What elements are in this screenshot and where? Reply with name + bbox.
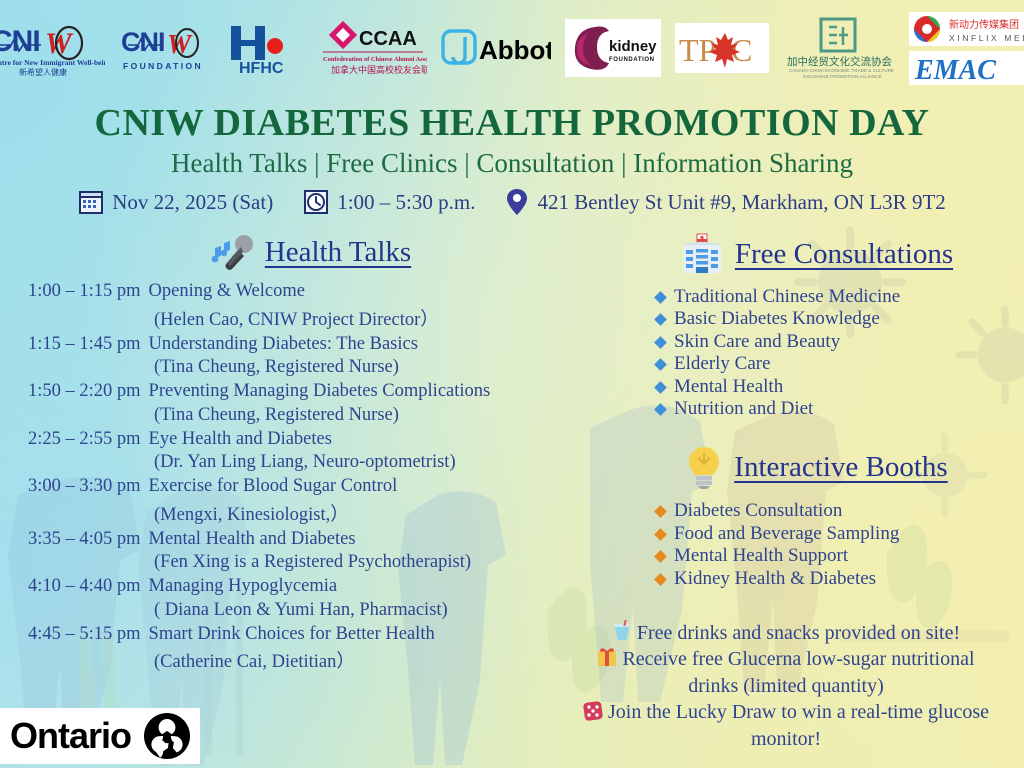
talk-time: 4:10 – 4:40 pm [28, 577, 141, 596]
talk-time: 3:00 – 3:30 pm [28, 477, 141, 496]
free-consultations-header: Free Consultations [620, 232, 1012, 276]
page-title: CNIW DIABETES HEALTH PROMOTION DAY [0, 101, 1024, 145]
talk-time: 1:15 – 1:45 pm [28, 335, 141, 354]
free-consultations-title: Free Consultations [735, 238, 953, 271]
health-talks-header: Health Talks [28, 232, 594, 272]
talk-topic: Preventing Managing Diabetes Complicatio… [149, 381, 491, 401]
media-logo-stack: 新动力传媒集团 XINFLIX MEDIA EMAC [909, 12, 1024, 85]
ccaa-logo: CCAA Confederation of Chinese Alumni Ass… [319, 19, 427, 77]
diamond-bullet-icon [654, 336, 667, 349]
svg-text:EMAC: EMAC [914, 55, 996, 85]
svg-text:HFHC: HFHC [239, 60, 284, 76]
event-date: Nov 22, 2025 (Sat) [78, 189, 273, 215]
list-item: Nutrition and Diet [620, 398, 1012, 420]
svg-text:kidney: kidney [609, 38, 657, 55]
interactive-booths-section: Interactive Booths Diabetes Consultation… [620, 444, 1012, 590]
list-item: Mental Health Support [620, 545, 1012, 567]
xinflix-media-logo: 新动力传媒集团 XINFLIX MEDIA [909, 12, 1024, 46]
svg-text:加拿大中国高校校友会联合会: 加拿大中国高校校友会联合会 [331, 64, 427, 75]
talk-row: 4:45 – 5:15 pmSmart Drink Choices for Be… [28, 625, 594, 644]
cceta-logo: 加中经贸文化交流协会 CANADA-CHINA ECONOMIC TRADE &… [783, 17, 895, 79]
list-item-label: Kidney Health & Diabetes [674, 568, 876, 590]
list-item-label: Mental Health Support [674, 545, 848, 567]
diamond-bullet-icon [654, 291, 667, 304]
sponsor-logo-bar: CNI W Centre for New Immigrant Well-bein… [0, 0, 1024, 96]
poster-canvas: CNI W Centre for New Immigrant Well-bein… [0, 0, 1024, 768]
clock-icon [303, 189, 329, 215]
talk-topic: Eye Health and Diabetes [149, 429, 332, 449]
drink-icon [612, 620, 632, 642]
emac-logo: EMAC [909, 51, 1024, 85]
list-item: Diabetes Consultation [620, 500, 1012, 522]
event-date-text: Nov 22, 2025 (Sat) [112, 190, 273, 215]
talk-row: 3:00 – 3:30 pmExercise for Blood Sugar C… [28, 477, 594, 496]
note-line: Free drinks and snacks provided on site! [548, 620, 1024, 646]
talk-topic: Mental Health and Diabetes [149, 529, 356, 549]
tpac-logo: TP C [675, 23, 769, 73]
note-text: Receive free Glucerna low-sugar nutritio… [622, 648, 974, 670]
ontario-label: Ontario [10, 715, 131, 757]
talk-topic: Exercise for Blood Sugar Control [149, 476, 398, 496]
diamond-bullet-icon [654, 314, 667, 327]
diamond-bullet-icon [654, 550, 667, 563]
svg-text:Centre for New Immigrant Well-: Centre for New Immigrant Well-being [0, 58, 105, 67]
list-item-label: Elderly Care [674, 353, 771, 375]
talk-speaker: (Tina Cheung, Registered Nurse) [28, 405, 594, 426]
svg-text:FOUNDATION: FOUNDATION [123, 61, 203, 71]
list-item: Mental Health [620, 376, 1012, 398]
talk-topic: Understanding Diabetes: The Basics [149, 334, 418, 354]
talk-time: 3:35 – 4:05 pm [28, 530, 141, 549]
talk-topic: Opening & Welcome [149, 281, 305, 301]
talk-time: 4:45 – 5:15 pm [28, 625, 141, 644]
diamond-bullet-icon [654, 528, 667, 541]
note-text: monitor! [751, 728, 821, 750]
list-item-label: Basic Diabetes Knowledge [674, 308, 880, 330]
right-column: Free Consultations Traditional Chinese M… [620, 232, 1012, 590]
microphone-icon [211, 232, 255, 272]
diamond-bullet-icon [654, 381, 667, 394]
health-talks-list: 1:00 – 1:15 pmOpening & Welcome(Helen Ca… [28, 282, 594, 673]
note-text: Free drinks and snacks provided on site! [637, 622, 960, 644]
page-subtitle: Health Talks | Free Clinics | Consultati… [0, 148, 1024, 179]
list-item: Elderly Care [620, 353, 1012, 375]
note-line: drinks (limited quantity) [548, 673, 1024, 699]
list-item-label: Mental Health [674, 376, 783, 398]
dice-icon [583, 701, 603, 721]
svg-text:CCAA: CCAA [359, 28, 417, 50]
svg-text:CANADA-CHINA ECONOMIC TRADE &: CANADA-CHINA ECONOMIC TRADE & CULTURE [789, 68, 894, 73]
list-item-label: Nutrition and Diet [674, 398, 813, 420]
talk-topic: Smart Drink Choices for Better Health [149, 624, 435, 644]
svg-text:TP: TP [679, 32, 716, 68]
talk-speaker: (Helen Cao, CNIW Project Director） [28, 305, 594, 331]
note-line: Join the Lucky Draw to win a real-time g… [548, 699, 1024, 725]
svg-text:FOUNDATION: FOUNDATION [609, 57, 655, 63]
health-talks-title: Health Talks [265, 236, 411, 269]
talk-row: 3:35 – 4:05 pmMental Health and Diabetes [28, 530, 594, 549]
talk-row: 1:50 – 2:20 pmPreventing Managing Diabet… [28, 382, 594, 401]
svg-text:XINFLIX MEDIA: XINFLIX MEDIA [949, 33, 1024, 43]
list-item: Kidney Health & Diabetes [620, 568, 1012, 590]
svg-text:CNI: CNI [0, 25, 40, 58]
list-item-label: Skin Care and Beauty [674, 331, 840, 353]
talk-speaker: (Catherine Cai, Dietitian） [28, 647, 594, 673]
svg-text:新动力传媒集团: 新动力传媒集团 [949, 18, 1019, 31]
notes-block: Free drinks and snacks provided on site!… [548, 620, 1024, 752]
talk-row: 2:25 – 2:55 pmEye Health and Diabetes [28, 430, 594, 449]
free-consultations-section: Free Consultations Traditional Chinese M… [620, 232, 1012, 420]
note-line: Receive free Glucerna low-sugar nutritio… [548, 646, 1024, 672]
event-meta-row: Nov 22, 2025 (Sat) 1:00 – 5:30 p.m. 421 … [0, 188, 1024, 216]
talk-topic: Managing Hypoglycemia [149, 576, 338, 596]
map-pin-icon [505, 188, 529, 216]
trillium-icon [143, 712, 191, 760]
svg-text:Confederation of Chinese Alumn: Confederation of Chinese Alumni Associat… [323, 56, 427, 63]
interactive-booths-title: Interactive Booths [734, 451, 947, 484]
svg-text:Abbott: Abbott [479, 35, 551, 65]
talk-row: 4:10 – 4:40 pmManaging Hypoglycemia [28, 577, 594, 596]
talk-time: 1:50 – 2:20 pm [28, 382, 141, 401]
abbott-logo: Abbott [441, 25, 551, 71]
list-item: Traditional Chinese Medicine [620, 286, 1012, 308]
svg-text:加中经贸文化交流协会: 加中经贸文化交流协会 [787, 55, 892, 68]
gift-icon [597, 646, 617, 668]
interactive-booths-list: Diabetes ConsultationFood and Beverage S… [620, 500, 1012, 590]
event-time: 1:00 – 5:30 p.m. [303, 189, 475, 215]
talk-row: 1:15 – 1:45 pmUnderstanding Diabetes: Th… [28, 335, 594, 354]
svg-text:新希望人健康: 新希望人健康 [19, 67, 67, 77]
cniw-foundation-logo: CNI W FOUNDATION [119, 19, 211, 77]
lightbulb-icon [684, 444, 724, 490]
cniw-logo: CNI W Centre for New Immigrant Well-bein… [0, 17, 105, 79]
list-item-label: Diabetes Consultation [674, 500, 842, 522]
event-time-text: 1:00 – 5:30 p.m. [337, 190, 475, 215]
interactive-booths-header: Interactive Booths [620, 444, 1012, 490]
hfhc-logo: HFHC [225, 20, 305, 76]
talk-row: 1:00 – 1:15 pmOpening & Welcome [28, 282, 594, 301]
ontario-logo: Ontario [0, 708, 200, 764]
diamond-bullet-icon [654, 506, 667, 519]
talk-time: 2:25 – 2:55 pm [28, 430, 141, 449]
talk-speaker: (Mengxi, Kinesiologist,） [28, 500, 594, 526]
diamond-bullet-icon [654, 358, 667, 371]
note-text: drinks (limited quantity) [688, 675, 884, 697]
free-consultations-list: Traditional Chinese MedicineBasic Diabet… [620, 286, 1012, 420]
svg-text:EXCHANGE PROMOTION ALLIANCE: EXCHANGE PROMOTION ALLIANCE [803, 74, 882, 79]
event-location: 421 Bentley St Unit #9, Markham, ON L3R … [505, 188, 945, 216]
talk-speaker: (Dr. Yan Ling Liang, Neuro-optometrist) [28, 452, 594, 473]
list-item-label: Traditional Chinese Medicine [674, 286, 900, 308]
list-item: Basic Diabetes Knowledge [620, 308, 1012, 330]
talk-speaker: ( Diana Leon & Yumi Han, Pharmacist) [28, 600, 594, 621]
list-item: Food and Beverage Sampling [620, 523, 1012, 545]
talk-time: 1:00 – 1:15 pm [28, 282, 141, 301]
note-text: Join the Lucky Draw to win a real-time g… [608, 701, 989, 723]
calendar-icon [78, 189, 104, 215]
talk-speaker: (Fen Xing is a Registered Psychotherapis… [28, 552, 594, 573]
hospital-icon [679, 232, 725, 276]
list-item-label: Food and Beverage Sampling [674, 523, 899, 545]
talk-speaker: (Tina Cheung, Registered Nurse) [28, 357, 594, 378]
event-location-text: 421 Bentley St Unit #9, Markham, ON L3R … [537, 190, 945, 215]
diamond-bullet-icon [654, 573, 667, 586]
list-item: Skin Care and Beauty [620, 331, 1012, 353]
diamond-bullet-icon [654, 403, 667, 416]
note-line: monitor! [548, 726, 1024, 752]
health-talks-section: Health Talks 1:00 – 1:15 pmOpening & Wel… [28, 232, 594, 677]
kidney-foundation-logo: kidney FOUNDATION [565, 19, 661, 77]
